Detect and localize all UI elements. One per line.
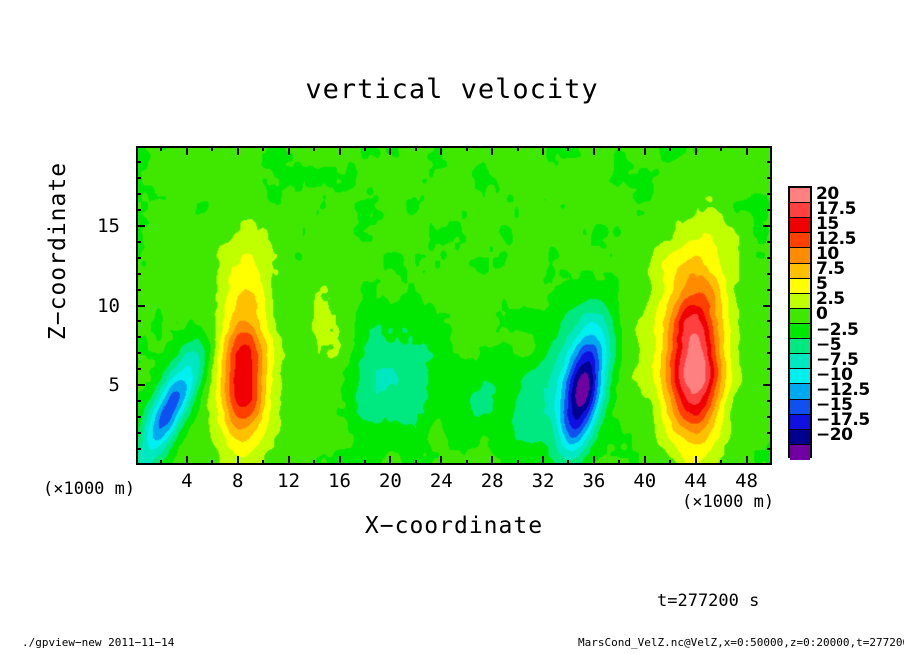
x-tick-48: [746, 456, 748, 465]
colorbar-swatch-0: [790, 188, 810, 203]
colorbar-swatch-10: [790, 339, 810, 354]
colorbar-swatch-11: [790, 354, 810, 369]
colorbar-swatch-12: [790, 369, 810, 384]
x-tick-top-40: [644, 146, 646, 155]
x-tick-top-46: [720, 146, 722, 151]
y-tick-right-11: [767, 289, 772, 291]
y-tick-16: [136, 209, 141, 211]
x-tick-top-20: [389, 146, 391, 155]
x-tick-label-12: 12: [277, 470, 300, 492]
x-tick-top-22: [415, 146, 417, 151]
colorbar-swatch-14: [790, 400, 810, 415]
x-tick-top-38: [618, 146, 620, 151]
x-tick-14: [313, 460, 315, 465]
x-tick-top-14: [313, 146, 315, 151]
x-tick-top-30: [517, 146, 519, 151]
x-tick-label-32: 32: [532, 470, 555, 492]
y-tick-right-8: [767, 336, 772, 338]
y-tick-right-13: [767, 257, 772, 259]
y-tick-right-19: [767, 161, 772, 163]
x-tick-top-12: [288, 146, 290, 155]
x-tick-20: [389, 456, 391, 465]
x-tick-label-20: 20: [379, 470, 402, 492]
x-tick-44: [695, 456, 697, 465]
colorbar-swatch-8: [790, 309, 810, 324]
x-tick-top-6: [211, 146, 213, 151]
x-tick-42: [669, 460, 671, 465]
colorbar-swatch-13: [790, 384, 810, 399]
x-tick-36: [593, 456, 595, 465]
y-tick-right-3: [767, 416, 772, 418]
x-tick-top-42: [669, 146, 671, 151]
y-tick-15: [136, 225, 145, 227]
y-axis-units: (×1000 m): [43, 479, 135, 499]
colorbar-swatch-3: [790, 233, 810, 248]
footer-dataset-info: MarsCond_VelZ.nc@VelZ,x=0:50000,z=0:2000…: [578, 636, 904, 649]
y-tick-right-2: [767, 432, 772, 434]
y-tick-13: [136, 257, 141, 259]
y-tick-10: [136, 305, 145, 307]
x-axis-title: X−coordinate: [136, 513, 772, 539]
y-tick-right-17: [767, 193, 772, 195]
x-tick-46: [720, 460, 722, 465]
contour-plot-area: [136, 146, 772, 465]
x-tick-top-44: [695, 146, 697, 155]
x-tick-label-4: 4: [181, 470, 192, 492]
y-tick-right-18: [767, 177, 772, 179]
x-tick-top-28: [491, 146, 493, 155]
y-tick-14: [136, 241, 141, 243]
y-tick-2: [136, 432, 141, 434]
x-tick-top-26: [466, 146, 468, 151]
x-tick-38: [618, 460, 620, 465]
x-tick-34: [567, 460, 569, 465]
x-tick-top-8: [237, 146, 239, 155]
y-tick-4: [136, 400, 141, 402]
x-tick-label-36: 36: [582, 470, 605, 492]
y-tick-7: [136, 352, 141, 354]
y-tick-17: [136, 193, 141, 195]
x-tick-40: [644, 456, 646, 465]
y-tick-label-10: 10: [97, 295, 120, 317]
x-tick-top-4: [186, 146, 188, 155]
colorbar-swatch-2: [790, 218, 810, 233]
y-tick-right-9: [767, 320, 772, 322]
y-tick-right-16: [767, 209, 772, 211]
y-tick-right-5: [763, 384, 772, 386]
x-tick-label-48: 48: [735, 470, 758, 492]
x-tick-8: [237, 456, 239, 465]
y-tick-label-15: 15: [97, 215, 120, 237]
vertical-velocity-heatmap: [138, 148, 770, 463]
time-annotation: t=277200 s: [657, 591, 759, 611]
y-tick-5: [136, 384, 145, 386]
colorbar-swatch-15: [790, 415, 810, 430]
y-tick-right-4: [767, 400, 772, 402]
colorbar-swatch-16: [790, 430, 810, 445]
x-tick-label-8: 8: [232, 470, 243, 492]
x-tick-26: [466, 460, 468, 465]
y-tick-right-14: [767, 241, 772, 243]
x-tick-12: [288, 456, 290, 465]
colorbar-swatch-1: [790, 203, 810, 218]
y-tick-right-7: [767, 352, 772, 354]
x-tick-label-40: 40: [633, 470, 656, 492]
y-axis-title: Z−coordinate: [45, 141, 71, 361]
x-tick-top-24: [440, 146, 442, 155]
x-tick-label-16: 16: [328, 470, 351, 492]
colorbar-swatch-17: [790, 445, 810, 460]
x-tick-6: [211, 460, 213, 465]
x-tick-24: [440, 456, 442, 465]
y-tick-12: [136, 273, 141, 275]
colorbar-swatch-4: [790, 248, 810, 263]
colorbar-swatch-9: [790, 324, 810, 339]
x-tick-top-48: [746, 146, 748, 155]
x-tick-top-10: [262, 146, 264, 151]
page-title: vertical velocity: [0, 74, 904, 105]
colorbar-label-16: −20: [816, 425, 852, 445]
colorbar-swatch-6: [790, 279, 810, 294]
y-tick-18: [136, 177, 141, 179]
x-tick-10: [262, 460, 264, 465]
y-tick-right-6: [767, 368, 772, 370]
y-tick-right-15: [763, 225, 772, 227]
x-tick-top-32: [542, 146, 544, 155]
x-tick-32: [542, 456, 544, 465]
y-tick-6: [136, 368, 141, 370]
y-tick-11: [136, 289, 141, 291]
x-tick-22: [415, 460, 417, 465]
y-tick-1: [136, 448, 141, 450]
x-tick-top-18: [364, 146, 366, 151]
y-tick-8: [136, 336, 141, 338]
x-tick-2: [160, 460, 162, 465]
x-tick-top-2: [160, 146, 162, 151]
x-tick-top-16: [339, 146, 341, 155]
y-tick-label-5: 5: [109, 374, 120, 396]
y-tick-3: [136, 416, 141, 418]
x-tick-top-34: [567, 146, 569, 151]
x-tick-label-28: 28: [481, 470, 504, 492]
colorbar-swatch-7: [790, 294, 810, 309]
x-tick-18: [364, 460, 366, 465]
colorbar: [788, 186, 812, 458]
y-tick-9: [136, 320, 141, 322]
x-tick-4: [186, 456, 188, 465]
x-axis-units: (×1000 m): [682, 492, 774, 512]
x-tick-30: [517, 460, 519, 465]
footer-command-info: ./gpview−new 2011−11−14: [22, 636, 174, 649]
x-tick-label-24: 24: [430, 470, 453, 492]
y-tick-right-1: [767, 448, 772, 450]
colorbar-swatch-5: [790, 264, 810, 279]
y-tick-right-10: [763, 305, 772, 307]
x-tick-28: [491, 456, 493, 465]
x-tick-label-44: 44: [684, 470, 707, 492]
x-tick-top-36: [593, 146, 595, 155]
x-tick-16: [339, 456, 341, 465]
y-tick-right-12: [767, 273, 772, 275]
y-tick-19: [136, 161, 141, 163]
